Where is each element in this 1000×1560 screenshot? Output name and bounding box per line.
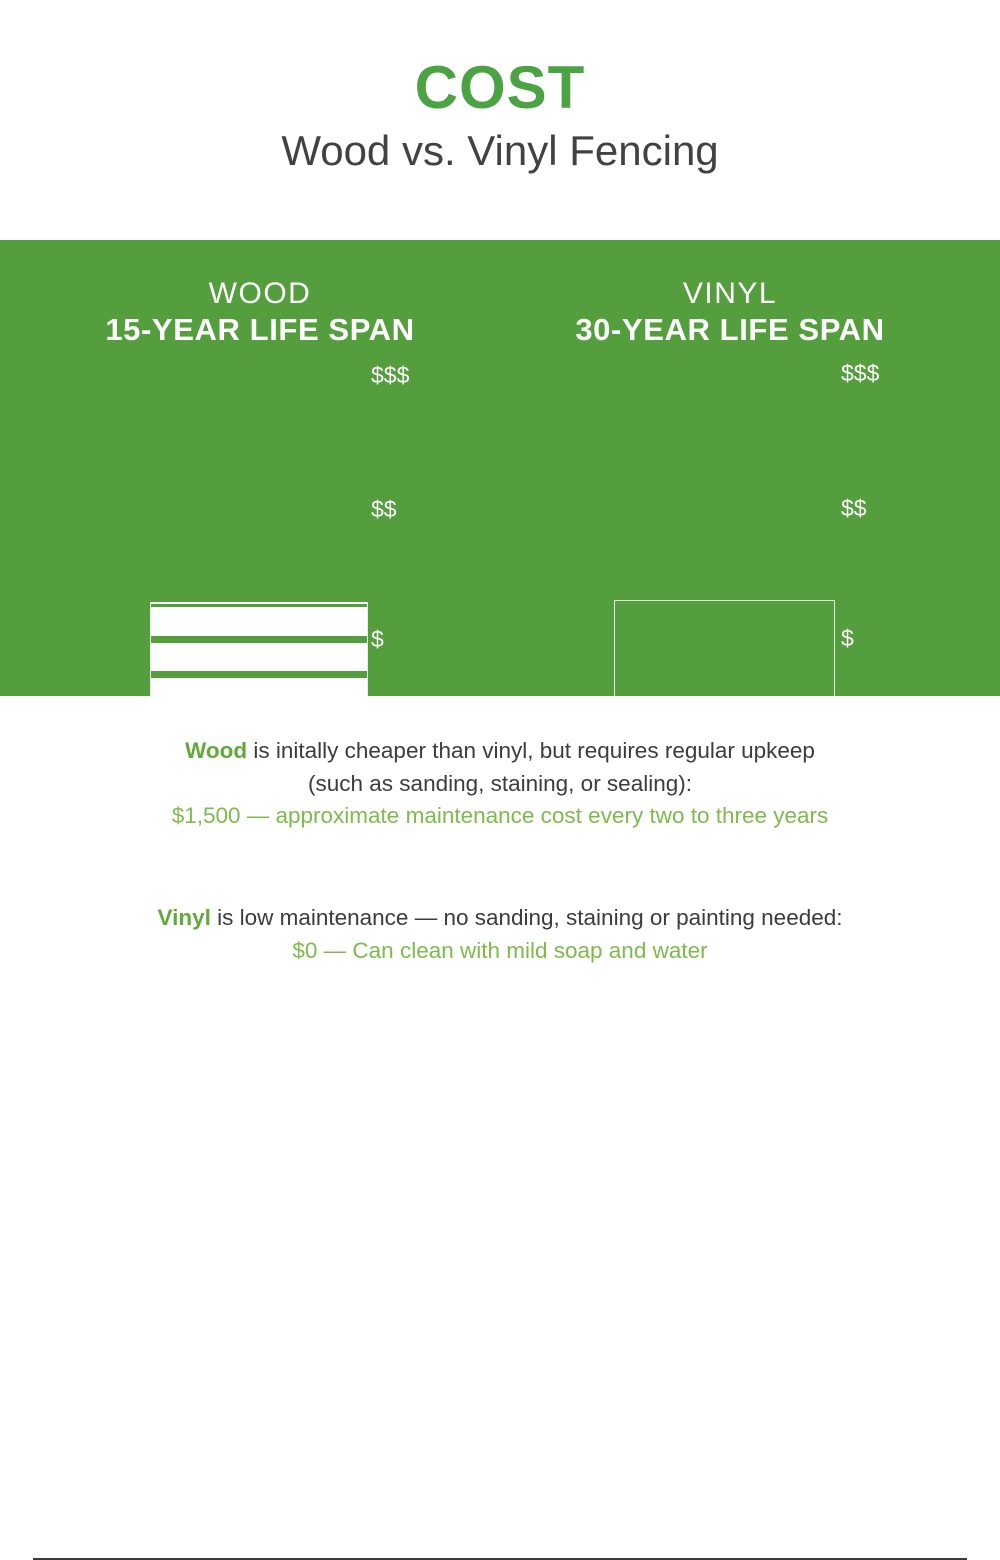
tick-label-low-vinyl: $ — [841, 627, 854, 650]
vinyl-cost-line: $0 — Can clean with mild soap and water — [0, 935, 1000, 968]
bar-band-white — [151, 602, 367, 604]
bar-band-white — [151, 643, 367, 671]
vinyl-body-line1: is low maintenance — no sanding, stainin… — [211, 905, 843, 930]
vinyl-description-line1: Vinyl is low maintenance — no sanding, s… — [0, 902, 1000, 935]
bar-band-white — [151, 607, 367, 636]
wood-body-line1: is initally cheaper than vinyl, but requ… — [247, 738, 815, 763]
tick-label-mid-vinyl: $$ — [841, 497, 867, 520]
vinyl-lead: Vinyl — [157, 905, 210, 930]
column-name-wood: WOOD — [60, 278, 460, 310]
header: COST Wood vs. Vinyl Fencing — [0, 0, 1000, 240]
wood-description: Wood is initally cheaper than vinyl, but… — [0, 735, 1000, 833]
column-name-vinyl: VINYL — [530, 278, 930, 310]
column-lifespan-vinyl: 30-YEAR LIFE SPAN — [530, 314, 930, 347]
page-subtitle: Wood vs. Vinyl Fencing — [0, 128, 1000, 174]
wood-cost-line: $1,500 — approximate maintenance cost ev… — [0, 800, 1000, 833]
column-lifespan-wood: 15-YEAR LIFE SPAN — [60, 314, 460, 347]
page-title: COST — [0, 58, 1000, 118]
vinyl-description: Vinyl is low maintenance — no sanding, s… — [0, 902, 1000, 967]
tick-label-high-vinyl: $$$ — [841, 362, 879, 385]
wood-body-line2: (such as sanding, staining, or sealing): — [0, 768, 1000, 801]
tick-label-low-wood: $ — [371, 628, 384, 651]
tick-label-high-wood: $$$ — [371, 364, 409, 387]
column-heading-vinyl: VINYL 30-YEAR LIFE SPAN — [530, 240, 930, 346]
column-heading-wood: WOOD 15-YEAR LIFE SPAN — [60, 240, 460, 346]
footer-copy: Wood is initally cheaper than vinyl, but… — [0, 696, 1000, 1000]
tick-label-mid-wood: $$ — [371, 498, 397, 521]
chart-panel: WOOD 15-YEAR LIFE SPAN VINYL 30-YEAR LIF… — [0, 240, 1000, 696]
wood-lead: Wood — [185, 738, 247, 763]
wood-description-line1: Wood is initally cheaper than vinyl, but… — [0, 735, 1000, 768]
